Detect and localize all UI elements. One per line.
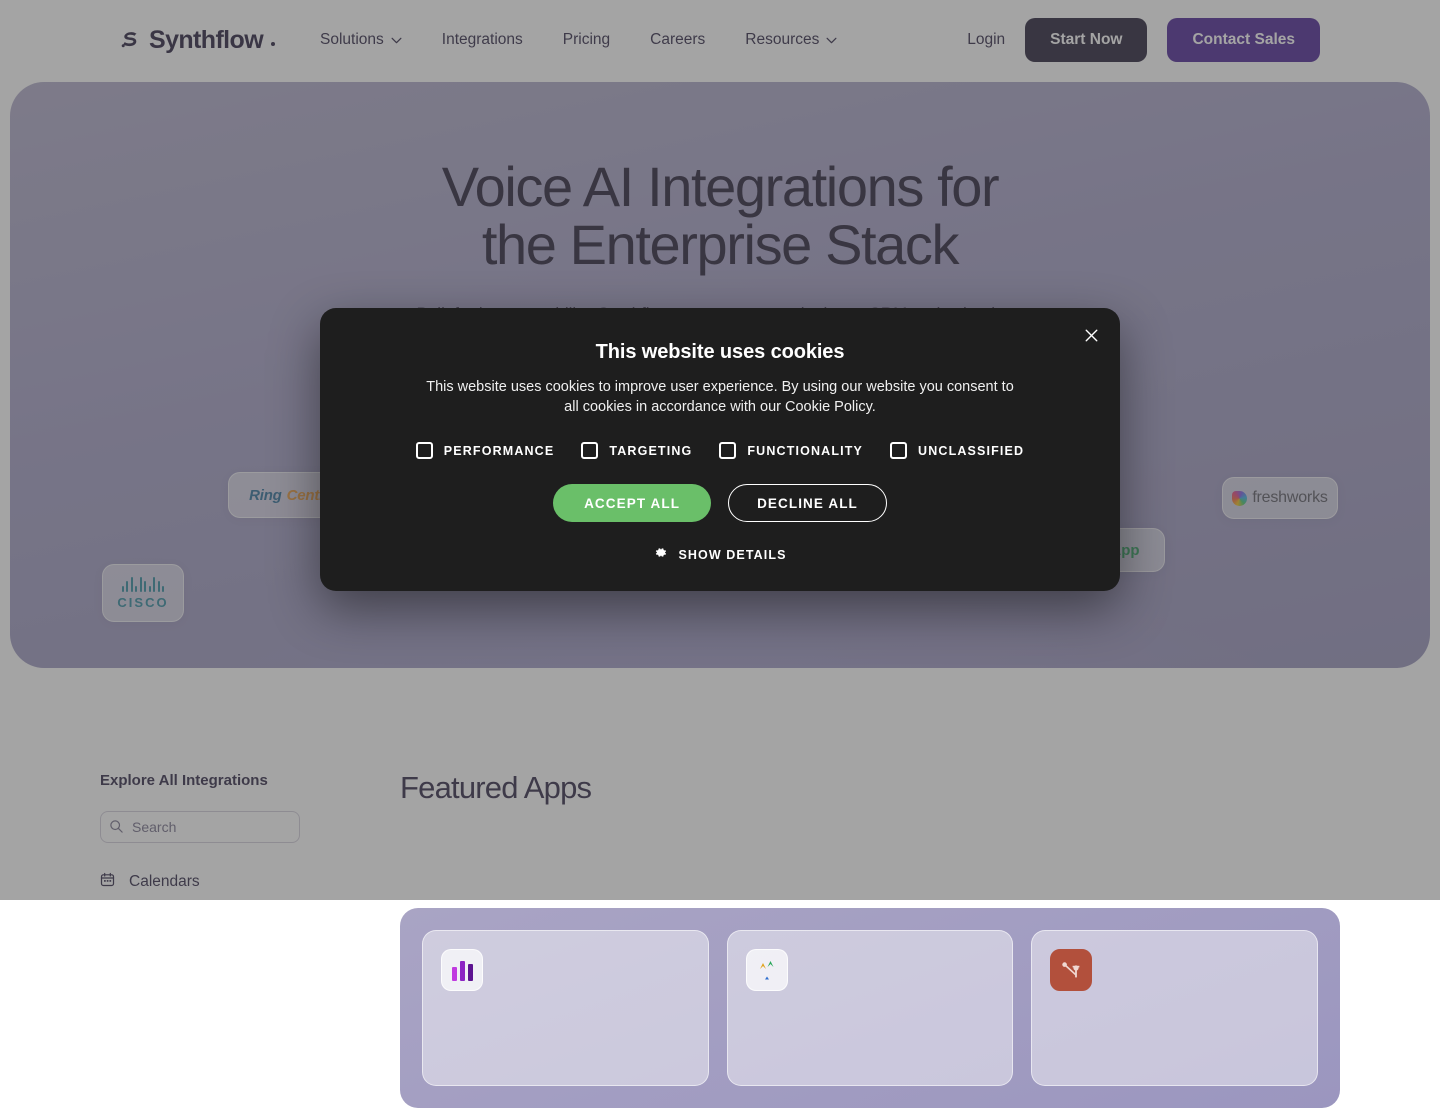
cookie-dialog-body: This website uses cookies to improve use… (418, 377, 1022, 417)
app-card[interactable] (1031, 930, 1318, 1086)
cookie-dialog-actions: ACCEPT ALL DECLINE ALL (320, 484, 1120, 522)
cookie-option-unclassified[interactable]: UNCLASSIFIED (890, 442, 1024, 459)
cookie-dialog-title: This website uses cookies (320, 341, 1120, 364)
show-details-link[interactable]: SHOW DETAILS (320, 545, 1120, 565)
cookie-category-options: PERFORMANCE TARGETING FUNCTIONALITY UNCL… (320, 442, 1120, 459)
featured-apps-panel (400, 908, 1340, 1108)
arrows-up-icon (746, 949, 788, 991)
show-details-label: SHOW DETAILS (678, 548, 786, 562)
cookie-option-label: PERFORMANCE (444, 444, 555, 458)
cookie-option-label: TARGETING (609, 444, 692, 458)
decline-all-button[interactable]: DECLINE ALL (728, 484, 887, 522)
cookie-option-functionality[interactable]: FUNCTIONALITY (719, 442, 863, 459)
bars-chart-icon (441, 949, 483, 991)
network-node-icon (1050, 949, 1092, 991)
checkbox-unclassified[interactable] (890, 442, 907, 459)
cookie-option-label: UNCLASSIFIED (918, 444, 1024, 458)
cookie-option-label: FUNCTIONALITY (747, 444, 863, 458)
app-card[interactable] (422, 930, 709, 1086)
cookie-consent-dialog: This website uses cookies This website u… (320, 308, 1120, 591)
accept-all-button[interactable]: ACCEPT ALL (553, 484, 711, 522)
app-card[interactable] (727, 930, 1014, 1086)
cookie-option-performance[interactable]: PERFORMANCE (416, 442, 555, 459)
gear-icon (653, 545, 668, 565)
checkbox-performance[interactable] (416, 442, 433, 459)
cookie-option-targeting[interactable]: TARGETING (581, 442, 692, 459)
close-icon[interactable] (1076, 320, 1106, 350)
checkbox-targeting[interactable] (581, 442, 598, 459)
checkbox-functionality[interactable] (719, 442, 736, 459)
